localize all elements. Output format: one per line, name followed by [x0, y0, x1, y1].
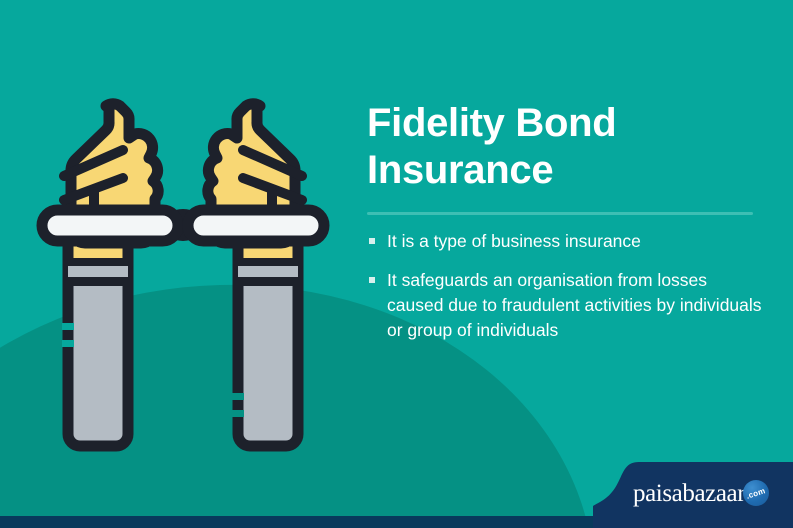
dotcom-badge-text: .com [746, 486, 767, 501]
title-divider [367, 212, 753, 215]
bullet-list: It is a type of business insurance It sa… [367, 229, 762, 342]
brand-logo: paisabazaar .com [633, 480, 769, 506]
page-title: Fidelity Bond Insurance [367, 100, 762, 194]
infographic-canvas: Fidelity Bond Insurance It is a type of … [0, 0, 793, 528]
brand-logo-panel: paisabazaar .com [593, 462, 793, 528]
bullet-square-icon [369, 238, 375, 244]
list-item: It safeguards an organisation from losse… [367, 268, 762, 343]
text-column: Fidelity Bond Insurance It is a type of … [367, 100, 762, 357]
dotcom-badge-icon: .com [743, 480, 769, 506]
handcuffed-hands-illustration [28, 88, 338, 460]
list-item-text: It is a type of business insurance [387, 231, 641, 251]
brand-wordmark: paisabazaar [633, 481, 745, 506]
list-item-text: It safeguards an organisation from losse… [387, 270, 762, 340]
bullet-square-icon [369, 277, 375, 283]
list-item: It is a type of business insurance [367, 229, 762, 254]
